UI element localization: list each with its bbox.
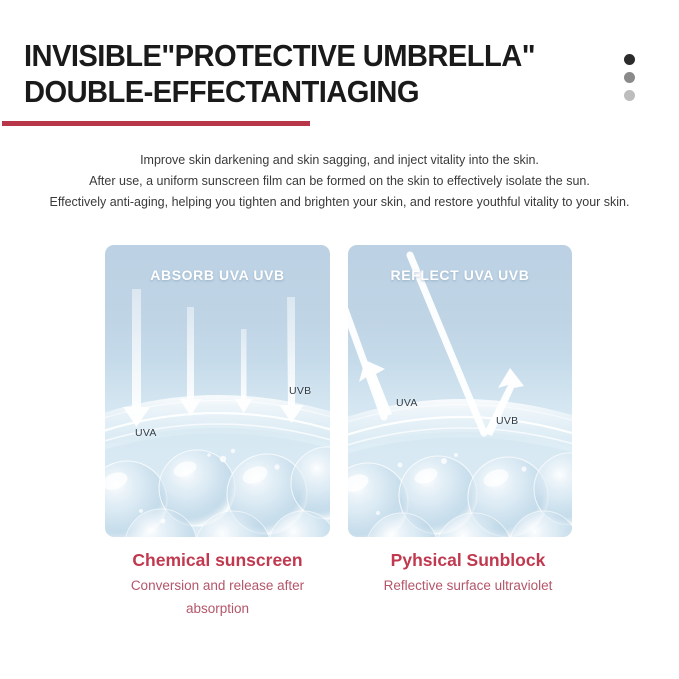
decorative-dots — [624, 54, 646, 108]
caption-chemical: Chemical sunscreen Conversion and releas… — [98, 548, 337, 620]
title-line-2: DOUBLE-EFFECTANTIAGING — [24, 74, 588, 110]
panel-chemical-absorb: ABSORB UVA UVB UVA UVB — [105, 245, 330, 537]
comparison-panels: ABSORB UVA UVB UVA UVB — [0, 245, 679, 537]
panel-right-uva-label: UVA — [396, 397, 418, 409]
dot-dark-icon — [624, 54, 635, 65]
caption-physical-title: Pyhsical Sunblock — [348, 548, 588, 572]
intro-line-1: Improve skin darkening and skin sagging,… — [0, 150, 679, 171]
header: INVISIBLE"PROTECTIVE UMBRELLA" DOUBLE-EF… — [0, 0, 679, 140]
panel-physical-reflect: REFLECT UVA UVB UVA UVB — [348, 245, 572, 537]
panel-left-uva-label: UVA — [135, 427, 157, 439]
panel-left-label: ABSORB UVA UVB — [105, 267, 330, 283]
intro-line-2: After use, a uniform sunscreen film can … — [0, 171, 679, 192]
caption-physical: Pyhsical Sunblock Reflective surface ult… — [348, 548, 588, 597]
dot-medium-icon — [624, 72, 635, 83]
title-underline-rule — [2, 121, 310, 126]
caption-chemical-title: Chemical sunscreen — [98, 548, 337, 572]
reflect-illustration — [348, 245, 572, 537]
panel-captions: Chemical sunscreen Conversion and releas… — [0, 548, 679, 658]
intro-line-3: Effectively anti-aging, helping you tigh… — [0, 192, 679, 213]
caption-physical-subtitle: Reflective surface ultraviolet — [348, 574, 588, 597]
page-title: INVISIBLE"PROTECTIVE UMBRELLA" DOUBLE-EF… — [24, 38, 624, 110]
intro-paragraph: Improve skin darkening and skin sagging,… — [0, 150, 679, 213]
title-line-1: INVISIBLE"PROTECTIVE UMBRELLA" — [24, 38, 588, 74]
panel-left-uvb-label: UVB — [289, 385, 312, 397]
caption-chemical-subtitle: Conversion and release after absorption — [98, 574, 337, 620]
dot-light-icon — [624, 90, 635, 101]
panel-right-uvb-label: UVB — [496, 415, 519, 427]
panel-right-label: REFLECT UVA UVB — [348, 267, 572, 283]
